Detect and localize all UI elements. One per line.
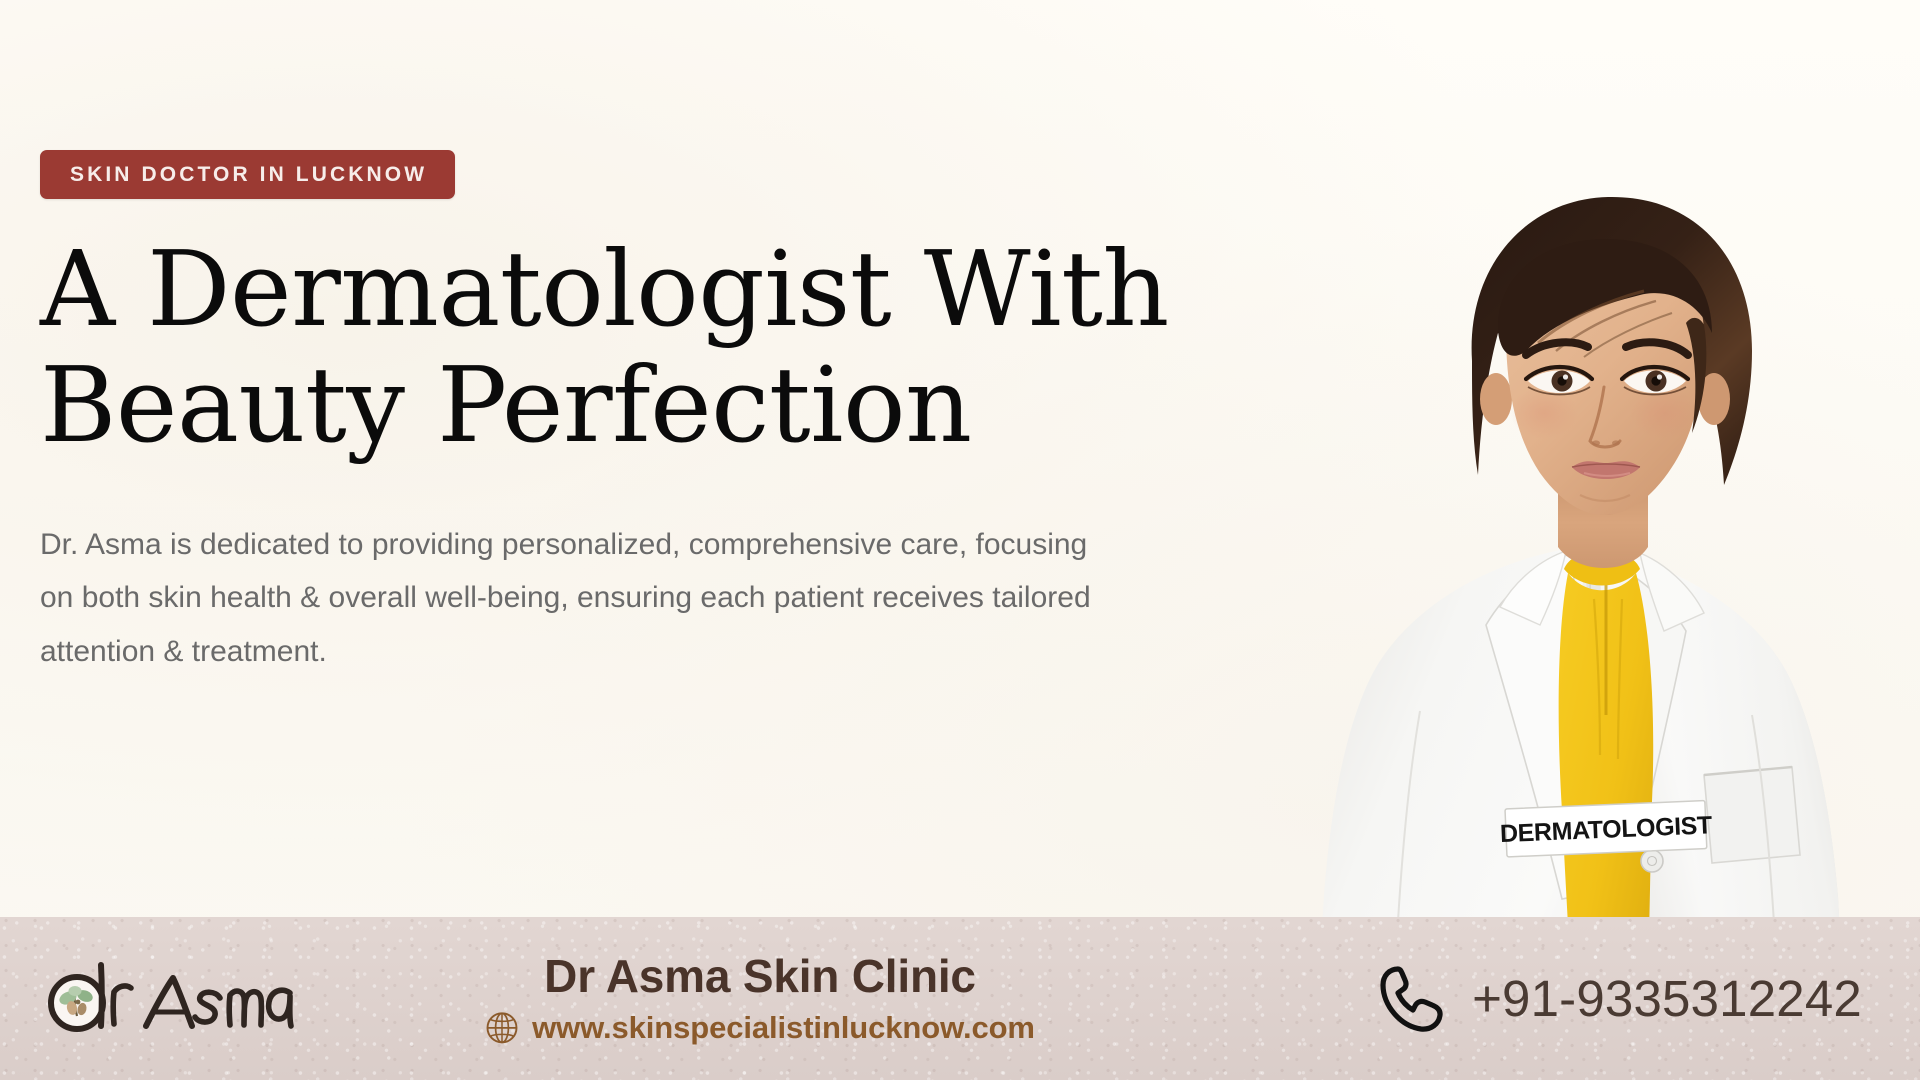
brand-logo[interactable] <box>42 956 294 1042</box>
website-url[interactable]: www.skinspecialistinlucknow.com <box>532 1010 1035 1046</box>
leaf-botanical-icon <box>51 977 103 1029</box>
head <box>1472 197 1752 515</box>
website-row[interactable]: www.skinspecialistinlucknow.com <box>485 1010 1035 1046</box>
name-badge: DERMATOLOGIST <box>1499 800 1713 857</box>
page-title-line-1: A Dermatologist With <box>40 231 1100 347</box>
page-title-line-2: Beauty Perfection <box>40 347 1100 463</box>
clinic-name: Dr Asma Skin Clinic <box>544 951 976 999</box>
hero-content: SKIN DOCTOR IN LUCKNOW A Dermatologist W… <box>40 150 1130 678</box>
eyebrow-badge: SKIN DOCTOR IN LUCKNOW <box>40 150 455 199</box>
phone-block[interactable]: +91-9335312242 <box>1378 963 1862 1035</box>
footer-bar: Dr Asma Skin Clinic www.skinspecialistin… <box>0 917 1920 1080</box>
hero-description: Dr. Asma is dedicated to providing perso… <box>40 518 1125 678</box>
footer-center-block: Dr Asma Skin Clinic www.skinspecialistin… <box>430 951 1090 1045</box>
globe-icon <box>485 1011 519 1045</box>
phone-number[interactable]: +91-9335312242 <box>1472 969 1862 1028</box>
phone-icon <box>1378 963 1446 1035</box>
page-title: A Dermatologist With Beauty Perfection <box>40 231 1100 464</box>
promotional-banner: SKIN DOCTOR IN LUCKNOW A Dermatologist W… <box>0 0 1920 1080</box>
